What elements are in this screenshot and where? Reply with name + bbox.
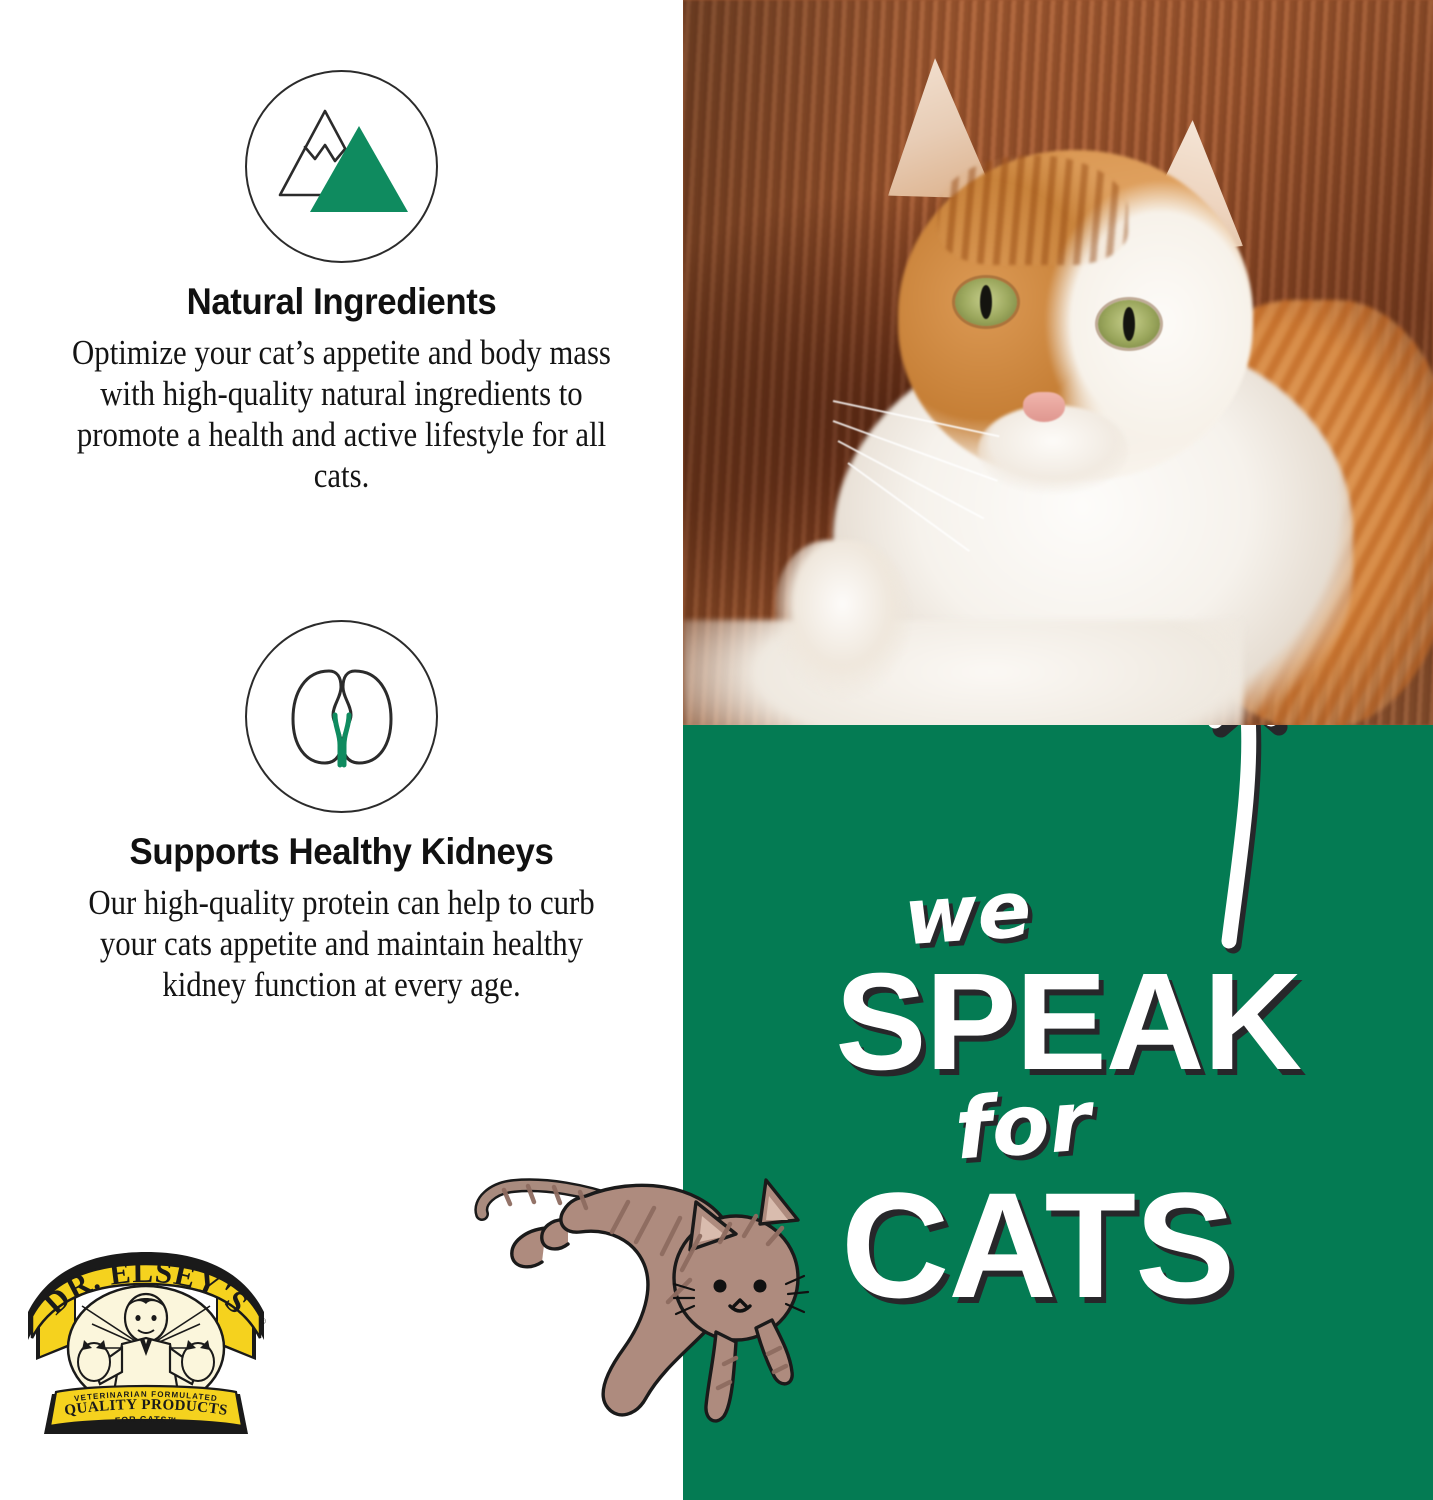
cat-photo xyxy=(683,0,1433,725)
feature-title: Supports Healthy Kidneys xyxy=(20,831,662,873)
cat-head-stripes xyxy=(938,155,1128,265)
registered-mark: ® xyxy=(260,1317,266,1326)
brand-logo: DR. ELSEY'S ® VETERINARIAN FORMULATED QU… xyxy=(22,1252,270,1437)
logo-tagline-bottom: FOR CATS™ xyxy=(114,1414,177,1426)
svg-text:FOR CATS™: FOR CATS™ xyxy=(114,1414,177,1426)
slogan-word-for: for xyxy=(952,1078,1093,1171)
feature-body: Optimize your cat’s appetite and body ma… xyxy=(41,333,642,497)
feature-body: Our high-quality protein can help to cur… xyxy=(41,883,642,1006)
feature-natural-ingredients: Natural Ingredients Optimize your cat’s … xyxy=(0,70,683,497)
slogan-word-speak: SPEAK xyxy=(835,953,1301,1091)
cat-lower-body xyxy=(683,620,1243,725)
jumping-cat-illustration xyxy=(468,1158,848,1458)
cat-nose xyxy=(1023,392,1065,422)
product-feature-panel: Natural Ingredients Optimize your cat’s … xyxy=(0,0,1433,1500)
feature-supports-healthy-kidneys: Supports Healthy Kidneys Our high-qualit… xyxy=(0,620,683,1006)
slogan-word-cats: CATS xyxy=(841,1170,1234,1320)
cat-paw xyxy=(775,540,910,700)
cat-pupil-left xyxy=(980,285,992,319)
kidney-icon xyxy=(245,620,438,813)
mountain-icon xyxy=(245,70,438,263)
cat-pupil-right xyxy=(1123,307,1135,341)
feature-title: Natural Ingredients xyxy=(20,281,662,323)
